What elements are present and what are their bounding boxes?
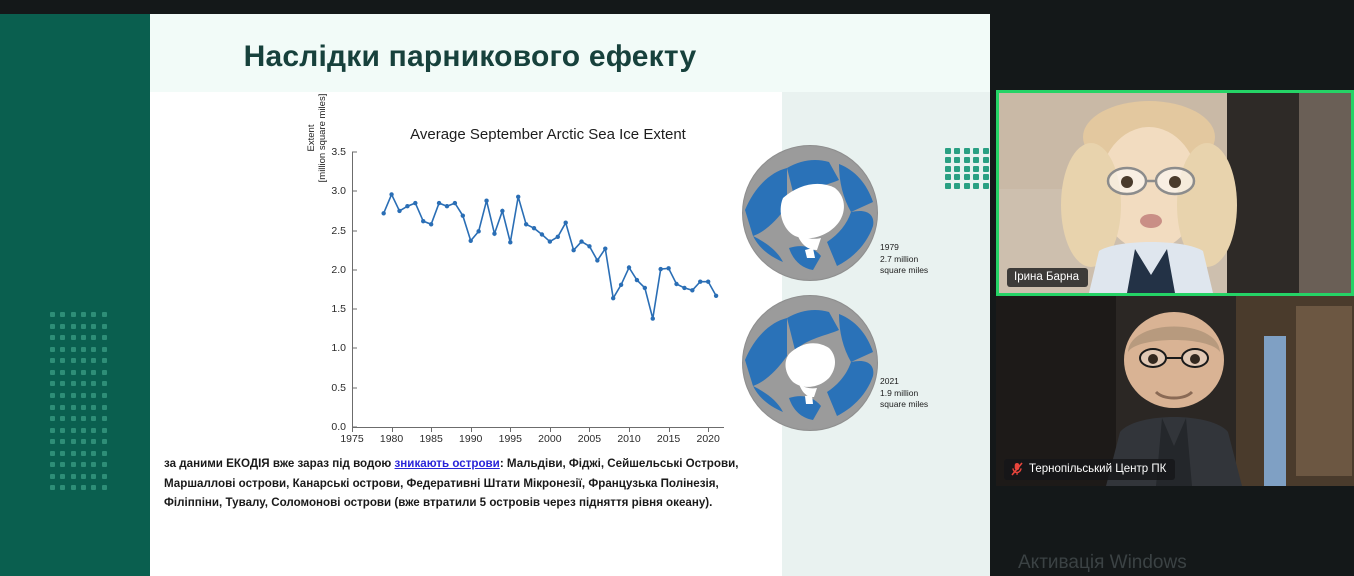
- dot: [964, 174, 970, 180]
- globe-1979-value: 2.7 million: [880, 254, 928, 266]
- dot: [91, 335, 96, 340]
- dot: [81, 370, 86, 375]
- dot: [91, 451, 96, 456]
- dot: [973, 157, 979, 163]
- globe-2021-unit: square miles: [880, 399, 928, 411]
- dot: [60, 347, 65, 352]
- x-tick-label: 1985: [419, 433, 442, 445]
- dot: [50, 324, 55, 329]
- dot: [71, 428, 76, 433]
- dot: [60, 462, 65, 467]
- globe-2021-value: 1.9 million: [880, 388, 928, 400]
- y-axis-label-line2: [million square miles]: [317, 78, 328, 198]
- dot: [91, 381, 96, 386]
- dot: [81, 416, 86, 421]
- dot: [71, 474, 76, 479]
- dot: [50, 485, 55, 490]
- x-tick-label: 1975: [340, 433, 363, 445]
- dot: [91, 312, 96, 317]
- dot: [964, 166, 970, 172]
- x-tick-mark: [708, 427, 709, 432]
- participant-2-name-badge: Тернопільський Центр ПК: [1004, 459, 1175, 480]
- dot: [50, 462, 55, 467]
- dot: [71, 416, 76, 421]
- dot: [91, 405, 96, 410]
- globe-1979-unit: square miles: [880, 265, 928, 277]
- dot: [91, 324, 96, 329]
- top-strip: [0, 0, 990, 14]
- x-tick-mark: [629, 427, 630, 432]
- video-tile-participant-2[interactable]: Тернопільський Центр ПК: [996, 296, 1354, 486]
- dot: [71, 462, 76, 467]
- dot: [91, 462, 96, 467]
- dot: [964, 157, 970, 163]
- dot: [102, 324, 107, 329]
- participant-2-name: Тернопільський Центр ПК: [1029, 463, 1166, 475]
- screen: Наслідки парникового ефекту Average Sept…: [0, 0, 1354, 576]
- dot: [102, 393, 107, 398]
- dot: [71, 324, 76, 329]
- dot: [60, 324, 65, 329]
- dot: [81, 405, 86, 410]
- dot: [71, 393, 76, 398]
- dot: [60, 416, 65, 421]
- participant-2-video: [996, 296, 1354, 486]
- dot: [964, 183, 970, 189]
- dot: [102, 405, 107, 410]
- chart-title: Average September Arctic Sea Ice Extent: [368, 126, 728, 143]
- dot: [983, 183, 989, 189]
- dot: [71, 358, 76, 363]
- dot: [945, 174, 951, 180]
- dot: [91, 370, 96, 375]
- dot: [71, 335, 76, 340]
- dot: [60, 428, 65, 433]
- left-green-panel: [0, 14, 150, 576]
- dot: [50, 370, 55, 375]
- dot: [973, 174, 979, 180]
- dot: [60, 439, 65, 444]
- dot: [50, 312, 55, 317]
- globe-2021-year: 2021: [880, 376, 928, 388]
- dot: [102, 358, 107, 363]
- dot: [71, 370, 76, 375]
- y-tick-label: 3.5: [331, 146, 346, 158]
- decorative-dot-grid-top: [945, 148, 990, 192]
- dot: [102, 381, 107, 386]
- dot: [91, 474, 96, 479]
- dot: [983, 166, 989, 172]
- dot: [102, 474, 107, 479]
- dot: [102, 428, 107, 433]
- dot: [60, 393, 65, 398]
- globe-2021-caption: 2021 1.9 million square miles: [880, 376, 928, 411]
- dot: [81, 358, 86, 363]
- page-title: Наслідки парникового ефекту: [150, 40, 790, 74]
- x-tick-label: 1995: [499, 433, 522, 445]
- dot: [81, 381, 86, 386]
- dot: [60, 485, 65, 490]
- dot: [102, 312, 107, 317]
- y-tick-label: 1.0: [331, 342, 346, 354]
- dot: [60, 358, 65, 363]
- dot: [81, 347, 86, 352]
- participant-1-video: [999, 93, 1351, 293]
- dot: [81, 324, 86, 329]
- globe-2021-map: [743, 296, 877, 430]
- y-tick-label: 2.0: [331, 264, 346, 276]
- dot: [102, 370, 107, 375]
- paragraph-text-before-link: за даними ЕКОДІЯ вже зараз під водою: [164, 457, 395, 470]
- x-tick-mark: [669, 427, 670, 432]
- slide-header: Наслідки парникового ефекту: [150, 14, 990, 92]
- dot: [91, 485, 96, 490]
- dot: [91, 347, 96, 352]
- dot: [81, 439, 86, 444]
- dot: [81, 428, 86, 433]
- dot: [60, 370, 65, 375]
- dot: [954, 166, 960, 172]
- dot: [91, 393, 96, 398]
- x-tick-label: 1980: [380, 433, 403, 445]
- x-tick-mark: [431, 427, 432, 432]
- dot: [71, 405, 76, 410]
- slide-paragraph: за даними ЕКОДІЯ вже зараз під водою зни…: [164, 454, 774, 513]
- dot: [50, 358, 55, 363]
- x-tick-mark: [352, 427, 353, 432]
- sea-ice-line-series: [352, 152, 724, 427]
- dot: [973, 183, 979, 189]
- dot: [50, 439, 55, 444]
- dot: [81, 312, 86, 317]
- dot: [102, 462, 107, 467]
- dot: [50, 381, 55, 386]
- dot: [81, 474, 86, 479]
- dot: [81, 335, 86, 340]
- dot: [945, 166, 951, 172]
- dot: [954, 148, 960, 154]
- dot: [60, 335, 65, 340]
- x-tick-label: 2020: [696, 433, 719, 445]
- dot: [983, 157, 989, 163]
- x-tick-label: 2015: [657, 433, 680, 445]
- dot: [91, 416, 96, 421]
- dot: [71, 439, 76, 444]
- dot: [973, 148, 979, 154]
- dot: [954, 183, 960, 189]
- dot: [91, 428, 96, 433]
- chart-y-axis-label: Extent [million square miles]: [306, 78, 328, 198]
- dot: [973, 166, 979, 172]
- dot: [60, 381, 65, 386]
- dot: [71, 312, 76, 317]
- dot: [81, 451, 86, 456]
- dot: [60, 312, 65, 317]
- video-tile-participant-1[interactable]: Ірина Барна: [996, 90, 1354, 296]
- dot: [102, 416, 107, 421]
- dot: [91, 439, 96, 444]
- islands-link[interactable]: зникають острови: [395, 457, 500, 470]
- dot: [60, 451, 65, 456]
- windows-activation-watermark: Активація Windows: [1018, 552, 1187, 574]
- x-tick-mark: [392, 427, 393, 432]
- dot: [983, 174, 989, 180]
- dot: [91, 358, 96, 363]
- arctic-sea-ice-chart: Average September Arctic Sea Ice Extent …: [308, 126, 738, 446]
- x-tick-label: 2010: [617, 433, 640, 445]
- dot: [71, 451, 76, 456]
- dot: [954, 174, 960, 180]
- globe-1979: [742, 145, 878, 281]
- dot: [50, 428, 55, 433]
- participant-1-name-badge: Ірина Барна: [1007, 268, 1088, 287]
- dot: [50, 474, 55, 479]
- participant-1-name: Ірина Барна: [1014, 271, 1079, 283]
- dot: [954, 157, 960, 163]
- dot: [50, 347, 55, 352]
- dot: [81, 485, 86, 490]
- dot: [964, 148, 970, 154]
- dot: [945, 148, 951, 154]
- dot: [81, 462, 86, 467]
- y-tick-label: 1.5: [331, 303, 346, 315]
- globe-1979-year: 1979: [880, 242, 928, 254]
- dot: [71, 485, 76, 490]
- globe-1979-caption: 1979 2.7 million square miles: [880, 242, 928, 277]
- chart-plot-area: 0.00.51.01.52.02.53.03.51975198019851990…: [352, 152, 724, 427]
- presentation-slide: Наслідки парникового ефекту Average Sept…: [150, 14, 990, 576]
- x-tick-label: 2005: [578, 433, 601, 445]
- y-tick-label: 0.5: [331, 382, 346, 394]
- dot: [60, 474, 65, 479]
- dot: [60, 405, 65, 410]
- dot: [50, 416, 55, 421]
- dot: [945, 157, 951, 163]
- x-tick-label: 2000: [538, 433, 561, 445]
- y-tick-label: 0.0: [331, 421, 346, 433]
- x-tick-mark: [550, 427, 551, 432]
- dot: [81, 393, 86, 398]
- globe-2021: [742, 295, 878, 431]
- y-tick-label: 2.5: [331, 225, 346, 237]
- dot: [102, 439, 107, 444]
- x-tick-mark: [589, 427, 590, 432]
- dot: [71, 347, 76, 352]
- x-tick-mark: [471, 427, 472, 432]
- dot: [50, 335, 55, 340]
- dot: [102, 451, 107, 456]
- x-tick-label: 1990: [459, 433, 482, 445]
- y-axis-label-line1: Extent: [306, 78, 317, 198]
- dot: [50, 451, 55, 456]
- dot: [50, 405, 55, 410]
- dot: [102, 485, 107, 490]
- dot: [50, 393, 55, 398]
- y-tick-label: 3.0: [331, 185, 346, 197]
- dot: [983, 148, 989, 154]
- microphone-muted-icon: [1011, 462, 1023, 476]
- dot: [945, 183, 951, 189]
- dot: [71, 381, 76, 386]
- x-tick-mark: [510, 427, 511, 432]
- globe-1979-map: [743, 146, 877, 280]
- dot: [102, 335, 107, 340]
- dot: [102, 347, 107, 352]
- decorative-dot-grid-left: [50, 312, 112, 497]
